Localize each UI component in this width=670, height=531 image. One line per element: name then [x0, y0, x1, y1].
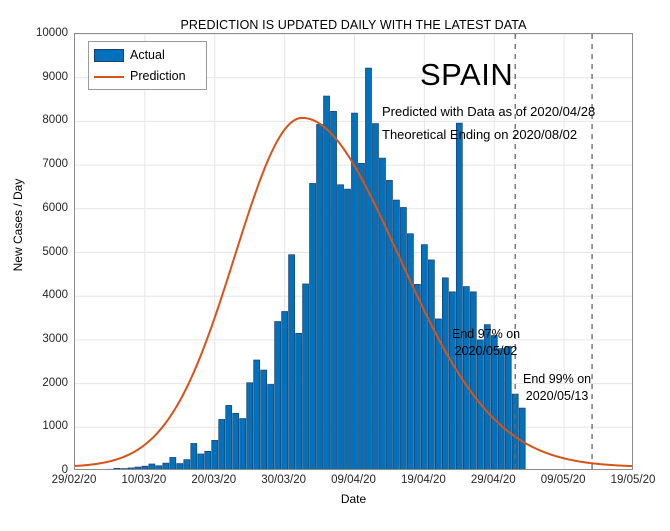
- annotation-end-97-line2: 2020/05/02: [452, 343, 520, 360]
- annotation-end-97-line1: End 97% on: [452, 326, 520, 343]
- bar: [121, 469, 127, 470]
- y-tick-label: 8000: [42, 114, 68, 126]
- bar: [400, 207, 406, 470]
- y-tick-label: 9000: [42, 71, 68, 83]
- bar: [324, 96, 330, 470]
- x-tick-label: 20/03/20: [191, 474, 236, 486]
- bar: [289, 255, 295, 470]
- x-tick-label: 09/05/20: [541, 474, 586, 486]
- legend-swatch-bar-icon: [94, 49, 124, 62]
- y-tick-label: 4000: [42, 289, 68, 301]
- bar: [100, 469, 106, 470]
- y-tick-label: 2000: [42, 377, 68, 389]
- bar: [338, 185, 344, 470]
- x-axis-ticks: 29/02/2010/03/2020/03/2030/03/2009/04/20…: [74, 474, 633, 492]
- bar: [226, 405, 232, 470]
- bar: [296, 333, 302, 470]
- bar: [498, 349, 504, 470]
- bar: [254, 360, 260, 470]
- annotation-end-99: End 99% on 2020/05/13: [523, 371, 591, 405]
- x-tick-label: 29/02/20: [52, 474, 97, 486]
- annotation-theoretical-ending: Theoretical Ending on 2020/08/02: [382, 127, 577, 142]
- bar: [414, 284, 420, 470]
- bar: [386, 180, 392, 470]
- legend-entry-prediction: Prediction: [94, 66, 186, 86]
- bar: [114, 468, 120, 470]
- bar: [505, 346, 511, 470]
- bar: [442, 278, 448, 470]
- bar: [372, 124, 378, 470]
- bar: [212, 440, 218, 470]
- x-tick-label: 10/03/20: [121, 474, 166, 486]
- bar: [149, 464, 155, 470]
- bar: [156, 466, 162, 470]
- bar: [345, 189, 351, 470]
- bar: [393, 200, 399, 470]
- y-tick-label: 10000: [36, 27, 68, 39]
- legend-label-actual: Actual: [130, 48, 165, 62]
- bar: [282, 311, 288, 470]
- legend-label-prediction: Prediction: [130, 69, 186, 83]
- country-name: SPAIN: [420, 57, 513, 93]
- bar: [449, 292, 455, 470]
- chart-legend: Actual Prediction: [88, 41, 207, 90]
- bar: [261, 370, 267, 470]
- bar: [247, 383, 253, 470]
- bar: [163, 463, 169, 470]
- bar: [310, 183, 316, 470]
- bar: [421, 245, 427, 470]
- bar: [184, 460, 190, 470]
- bar: [379, 158, 385, 470]
- y-tick-label: 7000: [42, 158, 68, 170]
- bar: [428, 260, 434, 470]
- bar: [128, 468, 134, 470]
- x-tick-label: 19/05/20: [611, 474, 656, 486]
- x-tick-label: 19/04/20: [401, 474, 446, 486]
- bar: [358, 163, 364, 470]
- bar: [365, 68, 371, 470]
- bar: [219, 419, 225, 470]
- y-tick-label: 5000: [42, 246, 68, 258]
- bar: [303, 284, 309, 470]
- x-tick-label: 09/04/20: [331, 474, 376, 486]
- bar: [198, 454, 204, 470]
- y-tick-label: 1000: [42, 420, 68, 432]
- x-tick-label: 29/04/20: [471, 474, 516, 486]
- y-tick-label: 3000: [42, 333, 68, 345]
- x-axis-label: Date: [74, 492, 633, 506]
- bar: [407, 234, 413, 470]
- bar: [456, 123, 462, 470]
- bar: [142, 466, 148, 470]
- y-axis-ticks: 0100020003000400050006000700080009000100…: [0, 33, 68, 470]
- bar: [275, 322, 281, 470]
- chart-figure: PREDICTION IS UPDATED DAILY WITH THE LAT…: [0, 0, 670, 531]
- bar: [177, 464, 183, 470]
- bar: [240, 419, 246, 470]
- x-tick-label: 30/03/20: [261, 474, 306, 486]
- annotation-end-99-line2: 2020/05/13: [523, 388, 591, 405]
- bar: [268, 384, 274, 470]
- bar: [233, 413, 239, 470]
- bar: [463, 287, 469, 470]
- annotation-predicted-with-data: Predicted with Data as of 2020/04/28: [382, 104, 595, 119]
- bar: [107, 469, 113, 470]
- annotation-end-97: End 97% on 2020/05/02: [452, 326, 520, 360]
- bar: [191, 443, 197, 470]
- bar: [205, 451, 211, 470]
- bar: [470, 292, 476, 470]
- y-tick-label: 6000: [42, 202, 68, 214]
- bar: [331, 111, 337, 470]
- annotation-end-99-line1: End 99% on: [523, 371, 591, 388]
- bar: [135, 467, 141, 470]
- bar: [317, 124, 323, 470]
- legend-entry-actual: Actual: [94, 45, 165, 65]
- legend-swatch-line-icon: [94, 70, 124, 83]
- bar: [170, 457, 176, 470]
- chart-title: PREDICTION IS UPDATED DAILY WITH THE LAT…: [74, 18, 633, 32]
